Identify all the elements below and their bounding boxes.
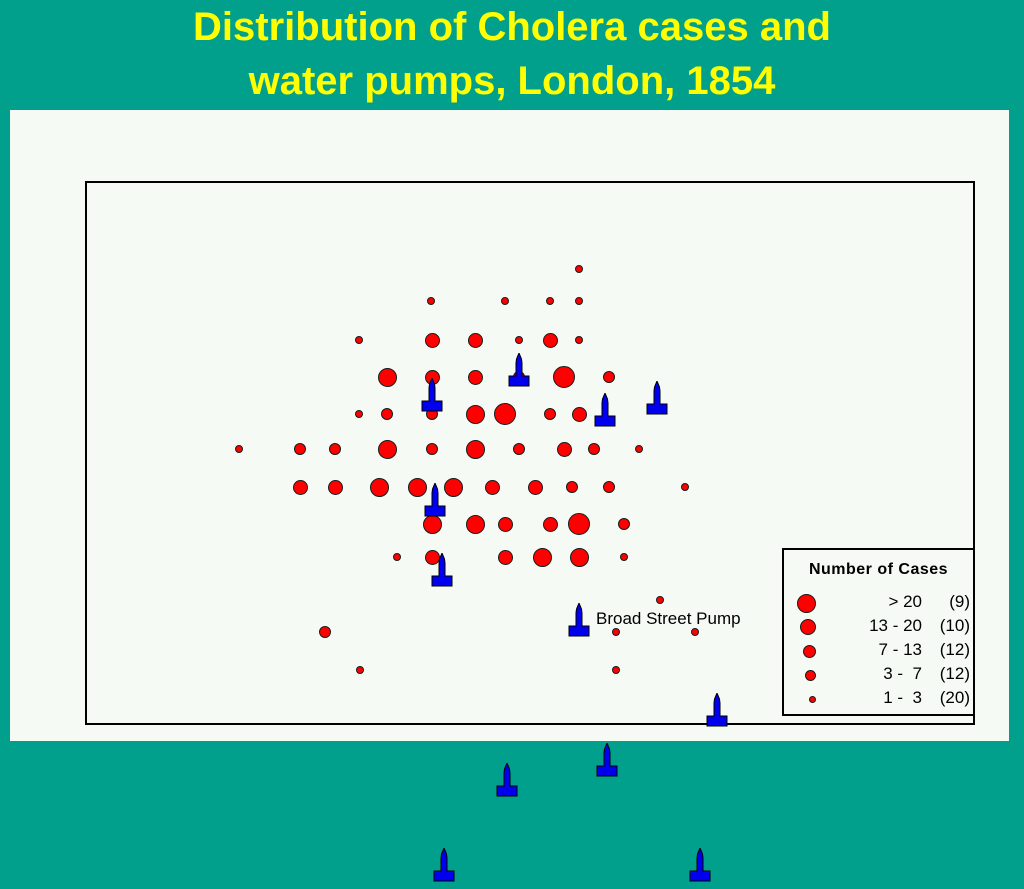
cholera-case-dot [498,550,513,565]
cholera-case-dot [572,407,587,422]
cholera-case-dot [603,481,615,493]
water-pump-icon [494,763,520,799]
cholera-case-dot [426,443,438,455]
cholera-case-dot [612,628,620,636]
cholera-case-dot [575,336,583,344]
water-pump-icon [429,553,455,589]
legend-count-label: (9) [922,592,970,612]
legend-row: 13 - 20(10) [784,615,973,639]
water-pump-icon [704,693,730,729]
legend-row: 7 - 13(12) [784,639,973,663]
broad-street-pump-label: Broad Street Pump [596,610,741,627]
legend-range-label: 3 - 7 [820,664,922,684]
cholera-case-dot [235,445,243,453]
cholera-case-dot [566,481,578,493]
cholera-case-dot [468,333,483,348]
cholera-case-dot [691,628,699,636]
cholera-case-dot [328,480,343,495]
legend-count-label: (12) [922,664,970,684]
water-pump-icon [594,743,620,779]
water-pump-icon [506,353,532,389]
legend-range-label: 7 - 13 [820,640,922,660]
cholera-case-dot [588,443,600,455]
cholera-case-dot [498,517,513,532]
cholera-case-dot [543,333,558,348]
legend-range-label: 1 - 3 [820,688,922,708]
cholera-case-dot [557,442,572,457]
cholera-case-dot [553,366,575,388]
legend-swatch-dot [803,645,816,658]
legend-swatch-dot [809,696,816,703]
cholera-case-dot [612,666,620,674]
cholera-case-dot [370,478,389,497]
legend-row: > 20(9) [784,591,973,615]
legend-panel: Number of Cases > 20(9)13 - 20(10)7 - 13… [782,548,975,716]
legend-title: Number of Cases [784,561,973,579]
cholera-case-dot [355,410,363,418]
legend-range-label: 13 - 20 [820,616,922,636]
water-pump-icon [566,603,592,639]
cholera-case-dot [546,297,554,305]
legend-rows: > 20(9)13 - 20(10)7 - 13(12)3 - 7(12)1 -… [784,591,973,711]
cholera-case-dot [656,596,664,604]
legend-count-label: (20) [922,688,970,708]
cholera-case-dot [425,333,440,348]
cholera-case-dot [513,443,525,455]
cholera-case-dot [494,403,516,425]
cholera-case-dot [544,408,556,420]
cholera-case-dot [543,517,558,532]
cholera-case-dot [294,443,306,455]
cholera-case-dot [356,666,364,674]
cholera-case-dot [329,443,341,455]
cholera-case-dot [568,513,590,535]
cholera-case-dot [378,440,397,459]
cholera-case-dot [570,548,589,567]
cholera-case-dot [528,480,543,495]
legend-swatch-dot [800,619,816,635]
cholera-case-dot [603,371,615,383]
cholera-case-dot [635,445,643,453]
cholera-case-dot [293,480,308,495]
page-title-line-1: Distribution of Cholera cases and [193,0,831,54]
water-pump-icon [644,381,670,417]
cholera-case-dot [501,297,509,305]
legend-row: 3 - 7(12) [784,663,973,687]
cholera-case-dot [515,336,523,344]
cholera-case-dot [381,408,393,420]
cholera-case-dot [533,548,552,567]
cholera-case-dot [468,370,483,385]
page-title-line-2: water pumps, London, 1854 [249,54,776,108]
cholera-case-dot [575,297,583,305]
cholera-case-dot [355,336,363,344]
cholera-case-dot [378,368,397,387]
cholera-case-dot [575,265,583,273]
cholera-case-dot [393,553,401,561]
cholera-case-dot [681,483,689,491]
water-pump-icon [592,393,618,429]
water-pump-icon [422,483,448,519]
cholera-case-dot [618,518,630,530]
cholera-case-dot [620,553,628,561]
water-pump-icon [419,378,445,414]
cholera-case-dot [466,405,485,424]
legend-row: 1 - 3(20) [784,687,973,711]
legend-range-label: > 20 [820,592,922,612]
cholera-case-dot [466,440,485,459]
legend-swatch-dot [805,670,816,681]
water-pump-icon [431,848,457,884]
cholera-case-dot [485,480,500,495]
cholera-case-dot [466,515,485,534]
water-pump-icon [687,848,713,884]
legend-swatch-dot [797,594,816,613]
cholera-case-dot [319,626,331,638]
legend-count-label: (10) [922,616,970,636]
slide-title-banner: Distribution of Cholera cases and water … [0,0,1024,110]
legend-count-label: (12) [922,640,970,660]
cholera-case-dot [427,297,435,305]
